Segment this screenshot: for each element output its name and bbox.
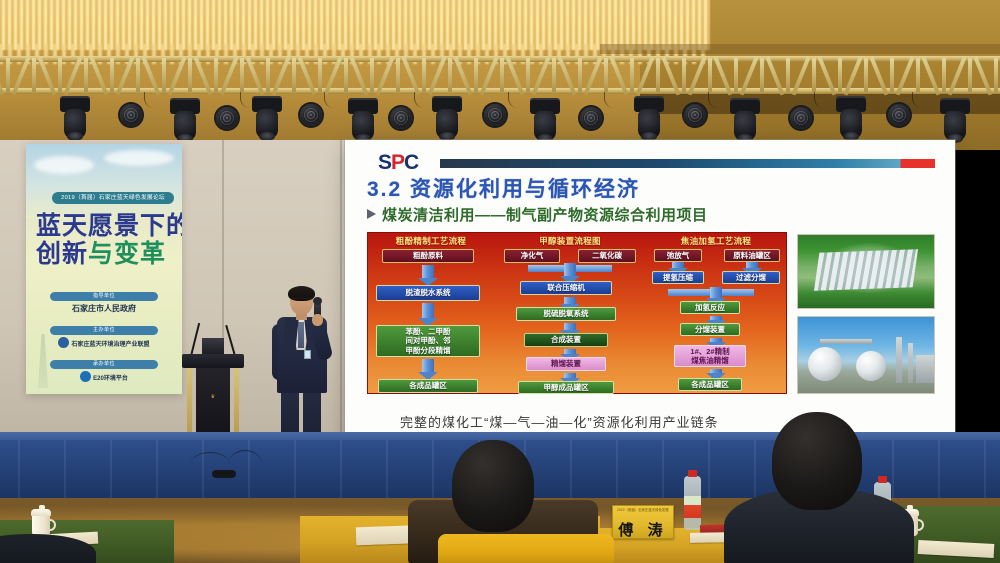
truss-vertical (916, 58, 920, 92)
spc-logo-p: P (391, 151, 404, 174)
truss-vertical (266, 58, 270, 92)
truss-vertical (786, 58, 790, 92)
bottle-cap (878, 476, 887, 483)
spc-logo-c: C (404, 151, 418, 174)
flow-node-label: 脱硫脱氧系统 (544, 309, 589, 318)
flow-node: 各成品罐区 (678, 378, 742, 391)
truss-vertical (344, 58, 348, 92)
slide-subtitle-text: 煤炭清洁利用——制气副产物资源综合利用项目 (382, 207, 708, 224)
banner-org-name: E20环境平台 (50, 371, 158, 382)
banner-cloud (34, 156, 94, 174)
presentation-screen: SPC 3.2 资源化利用与循环经济 煤炭清洁利用——制气副产物资源综合利用项目… (345, 140, 955, 440)
stage-skirt-fold (18, 440, 20, 502)
truss-vertical (942, 58, 946, 92)
flow-node: 1#、2#精制 煤焦油精馏 (674, 345, 746, 367)
audience-head (772, 412, 862, 510)
flow-arrow-down-icon (710, 338, 722, 343)
podium-hotel-crest: ♛ (198, 394, 228, 401)
process-flow-panel: 粗酚精制工艺流程 甲醇装置流程图 焦油加氢工艺流程 粗酚原料脱渣脱水系统苯酚、二… (367, 232, 787, 394)
truss-vertical (630, 58, 634, 92)
par-can-light (580, 107, 602, 129)
truss-vertical (110, 58, 114, 92)
flow-node: 合成装置 (524, 333, 608, 347)
flow-node: 净化气 (504, 249, 560, 263)
flow-node: 加氢反应 (680, 301, 740, 314)
truss-vertical (968, 58, 972, 92)
flow-arrow-down-icon (564, 349, 576, 355)
truss-vertical (240, 58, 244, 92)
teacup-knob (39, 505, 45, 510)
flow-node-label: 分馏装置 (695, 325, 725, 334)
flow-node-label: 净化气 (521, 251, 544, 260)
org-logo-icon (58, 337, 69, 348)
stage-skirt-fold (892, 440, 894, 502)
flow-node-label: 1#、2#精制 煤焦油精馏 (690, 347, 729, 366)
truss-vertical (656, 58, 660, 92)
truss-vertical (396, 58, 400, 92)
flow-node-label: 粗酚原料 (413, 251, 443, 260)
wall-seam (222, 140, 224, 340)
flow-column-header: 甲醇装置流程图 (498, 235, 642, 247)
chair-back-gold (438, 534, 614, 563)
pipe-rack (820, 339, 872, 344)
teacup-lid (31, 509, 51, 516)
flow-arrow-down-icon (564, 297, 576, 305)
teacup-knob (907, 505, 913, 510)
ceiling-beam (600, 44, 1000, 54)
bottle-label (684, 496, 701, 518)
truss-vertical (6, 58, 10, 92)
truss-vertical (500, 58, 504, 92)
stage-skirt-fold (616, 440, 618, 502)
conference-photo-scene: 2019（首届）石家庄蓝天绿色发展论坛 蓝天愿景下的 创新与变革 指导单位 石家… (0, 0, 1000, 563)
stage-skirt-fold (340, 440, 342, 502)
sphere-tank (808, 347, 842, 381)
truss-vertical (448, 58, 452, 92)
truss-vertical (214, 58, 218, 92)
flow-node: 脱渣脱水系统 (376, 285, 480, 301)
par-can-light (684, 104, 706, 126)
flow-arrow-down-icon (422, 265, 434, 279)
truss-vertical (526, 58, 530, 92)
stage-skirt-fold (708, 440, 710, 502)
plant-aerial-photo (797, 234, 935, 309)
teacup-body (32, 514, 50, 536)
truss-vertical (682, 58, 686, 92)
refinery-tower (896, 337, 902, 383)
refinery-building (916, 355, 934, 383)
truss-vertical (474, 58, 478, 92)
flow-node-label: 提氢压缩 (663, 273, 693, 282)
banner-org-name: 石家庄蓝天环境治理产业联盟 (50, 337, 158, 348)
podium-top (182, 354, 244, 368)
flow-node-label: 弛放气 (667, 251, 690, 260)
flow-node: 甲醇成品罐区 (518, 381, 614, 394)
bullet-triangle-icon (367, 209, 376, 219)
event-banner: 2019（首届）石家庄蓝天绿色发展论坛 蓝天愿景下的 创新与变革 指导单位 石家… (26, 144, 182, 394)
flow-node: 弛放气 (654, 249, 702, 262)
flow-arrow-down-icon (422, 359, 434, 373)
flow-node-label: 二氧化碳 (592, 251, 622, 260)
banner-org-organizer: 承办单位 E20环境平台 (50, 360, 158, 382)
speaker-tie (298, 322, 304, 348)
par-can-light (300, 104, 322, 126)
speaker-glasses-icon (291, 298, 312, 303)
truss-vertical (604, 58, 608, 92)
par-can-light (120, 104, 142, 126)
spherical-tanks-photo (797, 316, 935, 394)
refinery-tower (908, 343, 913, 383)
banner-title-line2-part2: 与变革 (88, 240, 166, 268)
speaker-badge (304, 350, 311, 359)
par-can-light (390, 107, 412, 129)
banner-cloud (104, 150, 174, 166)
slide-title: 3.2 资源化利用与循环经济 (367, 173, 640, 203)
flow-node: 苯酚、二甲酚 间对甲酚、邻 甲酚分段精馏 (376, 325, 480, 357)
e20-logo-icon (80, 371, 91, 382)
name-card: 2019（首届）石家庄蓝天绿色发展论坛 傅 涛 (612, 505, 674, 539)
flow-arrow-down-icon (710, 316, 722, 321)
par-can-light (216, 107, 238, 129)
banner-title-line2: 创新与变革 (36, 234, 166, 270)
flow-arrow-down-icon (564, 323, 576, 331)
slide-subtitle: 煤炭清洁利用——制气副产物资源综合利用项目 (367, 204, 708, 225)
flow-node-label: 各成品罐区 (409, 381, 447, 390)
truss-vertical (994, 58, 998, 92)
truss-vertical (890, 58, 894, 92)
name-card-header: 2019（首届）石家庄蓝天绿色发展论坛 (617, 508, 669, 513)
flow-node-label: 精馏装置 (551, 359, 581, 368)
truss-vertical (864, 58, 868, 92)
truss-vertical (84, 58, 88, 92)
flow-node: 原料油罐区 (724, 249, 780, 262)
flow-arrow-down-icon (746, 262, 758, 269)
banner-org-role: 主办单位 (50, 326, 158, 335)
flow-node-label: 原料油罐区 (733, 251, 771, 260)
flow-arrow-down-icon (422, 303, 434, 319)
banner-title-line2-part1: 创新 (36, 240, 88, 268)
stage-skirt-fold (294, 440, 296, 502)
truss-vertical (760, 58, 764, 92)
bottle-cap (688, 470, 697, 477)
flow-node-label: 各成品罐区 (691, 380, 729, 389)
banner-subtitle: 2019（首届）石家庄蓝天绿色发展论坛 (52, 192, 174, 204)
flow-node: 粗酚原料 (382, 249, 474, 263)
stage-skirt-fold (984, 440, 986, 502)
truss-vertical (734, 58, 738, 92)
flow-node-label: 甲醇成品罐区 (544, 383, 589, 392)
sphere-tank (856, 351, 886, 381)
banner-org-name: 石家庄市人民政府 (50, 303, 158, 314)
truss-vertical (552, 58, 556, 92)
truss-vertical (370, 58, 374, 92)
truss-vertical (292, 58, 296, 92)
flow-node-label: 加氢反应 (695, 303, 725, 312)
spc-logo-s: S (378, 151, 391, 174)
water-bottle-center (684, 470, 701, 530)
flow-node: 精馏装置 (526, 357, 606, 371)
flow-arrow-down-icon (710, 369, 722, 374)
truss-vertical (838, 58, 842, 92)
par-can-light (790, 107, 812, 129)
stage-skirt-fold (110, 440, 112, 502)
flow-node: 二氧化碳 (578, 249, 636, 263)
flow-node-label: 脱渣脱水系统 (406, 288, 451, 297)
truss-vertical (162, 58, 166, 92)
flow-node: 脱硫脱氧系统 (516, 307, 616, 321)
truss-vertical (188, 58, 192, 92)
teacup (32, 508, 53, 536)
truss-vertical (32, 58, 36, 92)
banner-org-name-text: 石家庄蓝天环境治理产业联盟 (71, 342, 149, 348)
stage-skirt-fold (156, 440, 158, 502)
stage-skirt-fold (570, 440, 572, 502)
truss-vertical (136, 58, 140, 92)
audience-head (452, 440, 534, 532)
par-can-light (484, 104, 506, 126)
banner-org-host: 主办单位 石家庄蓝天环境治理产业联盟 (50, 326, 158, 348)
flow-node: 提氢压缩 (652, 271, 704, 284)
flow-arrow-down-icon (564, 373, 576, 379)
flow-node: 分馏装置 (680, 323, 740, 336)
flow-node: 联合压缩机 (520, 281, 612, 295)
name-card-name: 傅 涛 (613, 519, 673, 540)
flow-node-label: 苯酚、二甲酚 间对甲酚、邻 甲酚分段精馏 (406, 327, 451, 355)
banner-org-role: 承办单位 (50, 360, 158, 369)
banner-org-role: 指导单位 (50, 292, 158, 301)
truss-vertical (58, 58, 62, 92)
flow-node-label: 合成装置 (551, 335, 581, 344)
stage-skirt-fold (64, 440, 66, 502)
flow-column-header: 焦油加氢工艺流程 (646, 235, 786, 247)
flow-arrow-down-icon (564, 263, 576, 277)
banner-org-name-text: E20环境平台 (93, 376, 128, 382)
stage-skirt-fold (938, 440, 940, 502)
truss-vertical (708, 58, 712, 92)
flow-column-header: 粗酚精制工艺流程 (370, 235, 492, 247)
spc-logo: SPC (378, 151, 418, 175)
truss-vertical (812, 58, 816, 92)
stage-skirt-fold (754, 440, 756, 502)
flow-node: 过滤分馏 (722, 271, 780, 284)
truss-vertical (578, 58, 582, 92)
chandelier (0, 0, 710, 50)
stage-skirt-fold (386, 440, 388, 502)
flow-node-label: 联合压缩机 (547, 283, 585, 292)
stage-monitor-shadow (212, 470, 236, 478)
stage-skirt-fold (432, 440, 434, 502)
truss-vertical (422, 58, 426, 92)
speaker-hand (312, 314, 323, 326)
wall-seam (340, 140, 342, 440)
flow-node-label: 过滤分馏 (736, 273, 766, 282)
flow-node: 各成品罐区 (378, 379, 478, 393)
flow-arrow-down-icon (710, 287, 722, 299)
stage-skirt-fold (662, 440, 664, 502)
podium-plate (202, 338, 224, 354)
banner-org-guide: 指导单位 石家庄市人民政府 (50, 292, 158, 314)
truss-vertical (318, 58, 322, 92)
par-can-light (888, 104, 910, 126)
slide-header-bar (440, 159, 935, 168)
flow-arrow-down-icon (672, 262, 684, 269)
